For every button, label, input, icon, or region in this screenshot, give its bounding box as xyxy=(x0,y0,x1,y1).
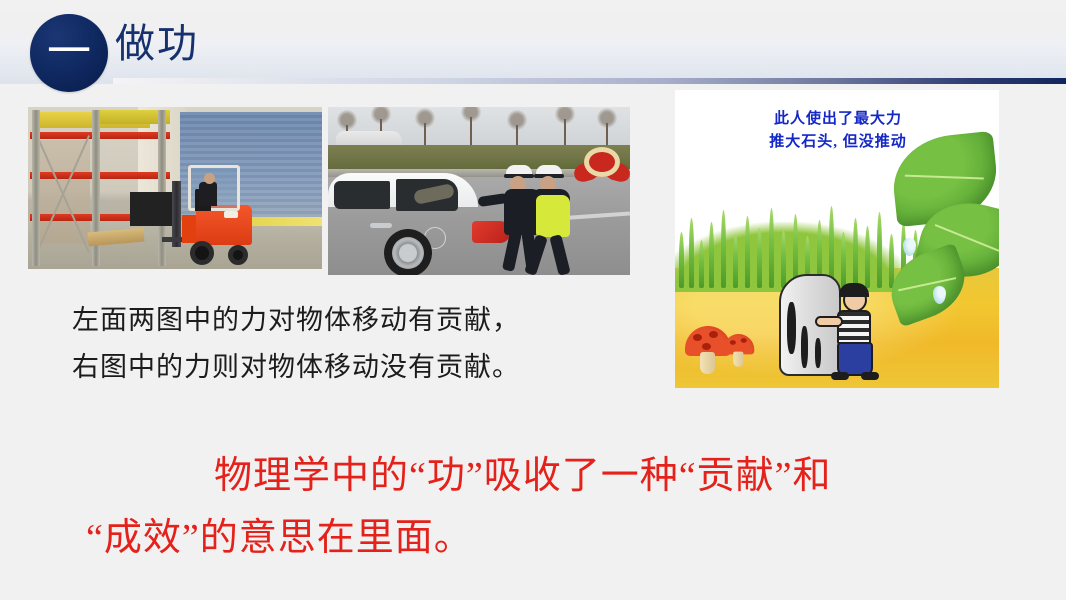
white-car xyxy=(328,167,522,275)
body-line-1: 左面两图中的力对物体移动有贡献， xyxy=(72,297,520,344)
body-paragraph: 左面两图中的力对物体移动有贡献， 右图中的力则对物体移动没有贡献。 xyxy=(72,297,520,391)
man-hair xyxy=(839,283,869,297)
forklift-headlight xyxy=(224,211,238,218)
forklift-wheel xyxy=(228,245,248,265)
car-door-handle xyxy=(370,223,392,228)
car-wheel xyxy=(384,229,432,275)
cartoon-man xyxy=(831,286,893,378)
warehouse-rack xyxy=(30,110,170,266)
forklift-fork xyxy=(162,237,184,242)
car-window xyxy=(334,181,390,209)
conclusion-line-1: 物理学中的“功”吸收了一种“贡献”和 xyxy=(86,445,1006,507)
forklift-wheel xyxy=(190,241,214,265)
man-foot xyxy=(831,372,849,380)
photo-forklift xyxy=(28,107,322,269)
man-shirt xyxy=(837,310,871,344)
body-line-2: 右图中的力则对物体移动没有贡献。 xyxy=(72,344,520,391)
photo-police xyxy=(328,107,630,275)
driver-body xyxy=(199,182,217,206)
forklift xyxy=(162,163,256,265)
section-number-label: 一 xyxy=(30,14,108,92)
cartoon-text-line-2: 推大石头, 但没推动 xyxy=(693,131,983,154)
page-title: 做功 xyxy=(115,16,199,72)
header-divider-rule xyxy=(113,78,1066,84)
cartoon-overlay-text: 此人使出了最大力 推大石头, 但没推动 xyxy=(693,108,983,154)
rack-beam xyxy=(30,132,170,139)
photo-cartoon: 此人使出了最大力 推大石头, 但没推动 xyxy=(675,90,999,388)
cartoon-text-line-1: 此人使出了最大力 xyxy=(693,108,983,131)
rack-post xyxy=(32,110,40,266)
man-pants xyxy=(837,342,873,376)
slide-root: 一 做功 xyxy=(0,0,1066,600)
rack-beam xyxy=(30,172,170,179)
conclusion-paragraph: 物理学中的“功”吸收了一种“贡献”和 “成效”的意思在里面。 xyxy=(86,445,1006,569)
driver-head xyxy=(204,173,215,184)
man-foot xyxy=(861,372,879,380)
conclusion-line-2: “成效”的意思在里面。 xyxy=(86,507,1006,569)
police-officer xyxy=(524,165,588,275)
man-arm xyxy=(815,316,843,327)
section-number-badge: 一 xyxy=(30,14,108,92)
